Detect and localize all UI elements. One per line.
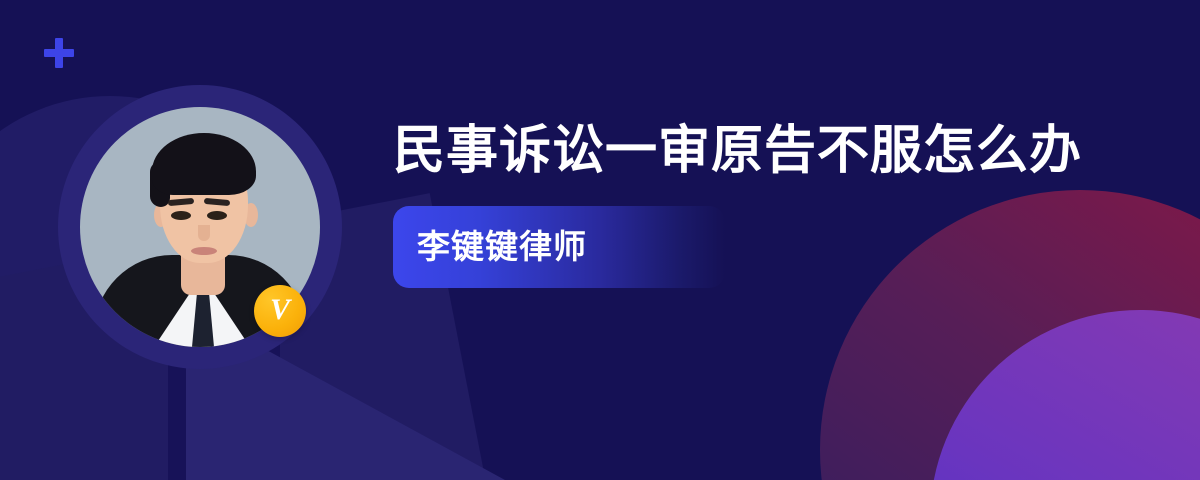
portrait-eye-left [171, 211, 191, 220]
page-title: 民事诉讼一审原告不服怎么办 [393, 118, 1093, 186]
author-name: 李键键律师 [417, 230, 587, 263]
portrait-nose [198, 225, 210, 241]
content-column: 民事诉讼一审原告不服怎么办 李键键律师 [393, 118, 1093, 288]
author-badge[interactable]: 李键键律师 [393, 206, 725, 288]
avatar: V [58, 85, 342, 369]
portrait-eye-right [207, 211, 227, 220]
verified-v-glyph: V [270, 295, 290, 325]
lawyer-topic-banner: V 民事诉讼一审原告不服怎么办 李键键律师 [0, 0, 1200, 480]
circle-shape-violet [930, 310, 1200, 480]
verified-badge-icon: V [254, 285, 306, 337]
portrait-mouth [191, 247, 217, 255]
portrait-hair [152, 133, 256, 195]
plus-icon [44, 38, 74, 68]
